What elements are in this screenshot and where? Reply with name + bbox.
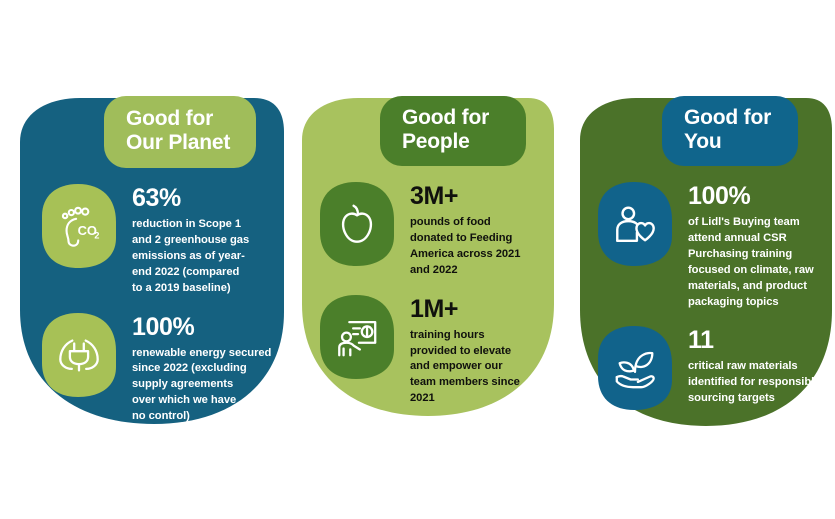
stat-icon-badge — [596, 180, 674, 268]
panel-good-for-our-planet: Good for Our Planet — [18, 96, 286, 426]
stat-icon-badge: CO 2 — [40, 182, 118, 270]
stat-list: CO 2 63% reduction in Scope 1 and 2 gree… — [40, 182, 284, 425]
panel-good-for-people: Good for People — [300, 96, 556, 418]
stat-text: 1M+ training hours provided to elevate a… — [396, 293, 520, 408]
stat-description: training hours provided to elevate and e… — [410, 328, 520, 408]
stat-icon-badge — [40, 311, 118, 399]
stat-value: 63% — [132, 186, 249, 211]
stat-description: of Lidl's Buying team attend annual CSR … — [688, 215, 814, 310]
stat-value: 100% — [132, 315, 271, 340]
stat-item: 1M+ training hours provided to elevate a… — [318, 293, 556, 408]
stat-text: 63% reduction in Scope 1 and 2 greenhous… — [118, 182, 249, 297]
panel-title: Good for Our Planet — [126, 107, 230, 156]
stat-value: 3M+ — [410, 184, 520, 209]
stat-description: pounds of food donated to Feeding Americ… — [410, 215, 520, 279]
stat-item: 100% of Lidl's Buying team attend annual… — [596, 180, 834, 310]
stat-item: 3M+ pounds of food donated to Feeding Am… — [318, 180, 556, 279]
training-presentation-icon — [334, 314, 380, 360]
stat-item: 100% renewable energy secured since 2022… — [40, 311, 284, 426]
stat-description: reduction in Scope 1 and 2 greenhouse ga… — [132, 217, 249, 297]
stat-text: 100% of Lidl's Buying team attend annual… — [674, 180, 814, 310]
stat-text: 11 critical raw materials identified for… — [674, 324, 820, 407]
stat-item: CO 2 63% reduction in Scope 1 and 2 gree… — [40, 182, 284, 297]
svg-text:2: 2 — [94, 230, 99, 240]
stat-list: 3M+ pounds of food donated to Feeding Am… — [318, 180, 556, 407]
stat-description: renewable energy secured since 2022 (exc… — [132, 346, 271, 426]
power-plug-icon — [56, 332, 102, 378]
hand-sprout-icon — [612, 345, 658, 391]
stat-icon-badge — [596, 324, 674, 412]
stat-list: 100% of Lidl's Buying team attend annual… — [596, 180, 834, 412]
stat-value: 100% — [688, 184, 814, 209]
person-heart-icon — [612, 201, 658, 247]
panel-good-for-you: Good for You — [578, 96, 834, 428]
panel-title-tab: Good for People — [380, 96, 526, 166]
stat-text: 3M+ pounds of food donated to Feeding Am… — [396, 180, 520, 279]
stat-value: 1M+ — [410, 297, 520, 322]
stat-description: critical raw materials identified for re… — [688, 359, 820, 407]
panel-title-tab: Good for Our Planet — [104, 96, 256, 168]
panel-title-tab: Good for You — [662, 96, 798, 166]
stat-value: 11 — [688, 328, 820, 353]
panel-title: Good for You — [684, 106, 771, 155]
apple-icon — [334, 201, 380, 247]
carbon-footprint-icon: CO 2 — [56, 203, 102, 249]
stat-icon-badge — [318, 293, 396, 381]
stat-icon-badge — [318, 180, 396, 268]
stat-item: 11 critical raw materials identified for… — [596, 324, 834, 412]
sustainability-infographic: Good for Our Planet — [0, 0, 835, 519]
panel-title: Good for People — [402, 106, 489, 155]
stat-text: 100% renewable energy secured since 2022… — [118, 311, 271, 426]
